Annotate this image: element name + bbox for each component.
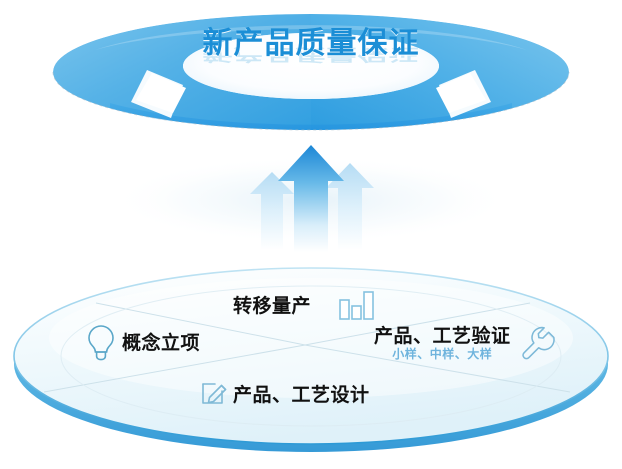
segment-label-concept-project: 概念立项: [122, 334, 200, 353]
segment-label-product-process-verification: 产品、工艺验证: [374, 327, 511, 346]
segment-concept-project[interactable]: 概念立项: [84, 325, 200, 361]
segment-transfer-mass-production[interactable]: 转移量产: [233, 291, 358, 321]
segment-product-process-design[interactable]: 产品、工艺设计: [200, 381, 370, 409]
diagram-canvas: 新产品质量保证 新产品质量保证 转移量产 概念立项 产品、工艺验证 小样、中样、…: [0, 0, 622, 469]
pencil-edit-icon-slot: [200, 381, 226, 409]
segment-text-column: 产品、工艺验证 小样、中样、大样: [374, 327, 511, 360]
bar-chart-icon-slot: [318, 291, 358, 321]
wrench-icon-slot: [515, 326, 549, 360]
segment-product-process-verification[interactable]: 产品、工艺验证 小样、中样、大样: [374, 326, 549, 360]
lightbulb-icon-slot: [84, 325, 114, 361]
segment-label-transfer-mass-production: 转移量产: [233, 297, 311, 316]
page-title: 新产品质量保证: [0, 29, 622, 59]
segment-label-product-process-design: 产品、工艺设计: [233, 386, 370, 405]
segment-sublabel-sample-stages: 小样、中样、大样: [392, 348, 492, 360]
